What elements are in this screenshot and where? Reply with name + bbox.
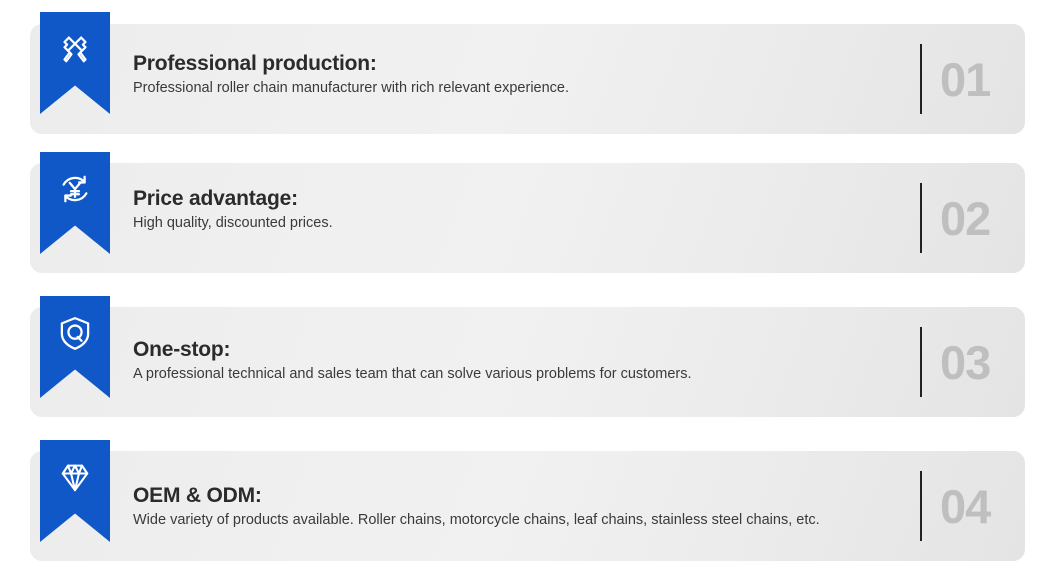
feature-title: Professional production:: [133, 52, 910, 76]
diamond-icon: [54, 456, 96, 498]
feature-description: Wide variety of products available. Roll…: [133, 510, 910, 531]
feature-text-block: Price advantage: High quality, discounte…: [133, 187, 910, 234]
features-list: Professional production: Professional ro…: [0, 0, 1060, 586]
feature-text-block: OEM & ODM: Wide variety of products avai…: [133, 484, 910, 531]
feature-text-block: One-stop: A professional technical and s…: [133, 338, 910, 385]
feature-index-number: 04: [940, 483, 1030, 530]
feature-index-number: 02: [940, 195, 1030, 242]
crossed-tools-icon: [54, 28, 96, 70]
feature-title: Price advantage:: [133, 187, 910, 211]
feature-description: Professional roller chain manufacturer w…: [133, 78, 910, 99]
feature-text-block: Professional production: Professional ro…: [133, 52, 910, 99]
yuan-currency-refresh-icon: [54, 168, 96, 210]
card-divider: [920, 44, 922, 114]
feature-title: One-stop:: [133, 338, 910, 362]
card-divider: [920, 183, 922, 253]
feature-index-number: 03: [940, 339, 1030, 386]
shield-quality-icon: [54, 312, 96, 354]
card-divider: [920, 327, 922, 397]
feature-title: OEM & ODM:: [133, 484, 910, 508]
card-divider: [920, 471, 922, 541]
feature-index-number: 01: [940, 56, 1030, 103]
feature-description: A professional technical and sales team …: [133, 364, 910, 385]
feature-description: High quality, discounted prices.: [133, 213, 910, 234]
